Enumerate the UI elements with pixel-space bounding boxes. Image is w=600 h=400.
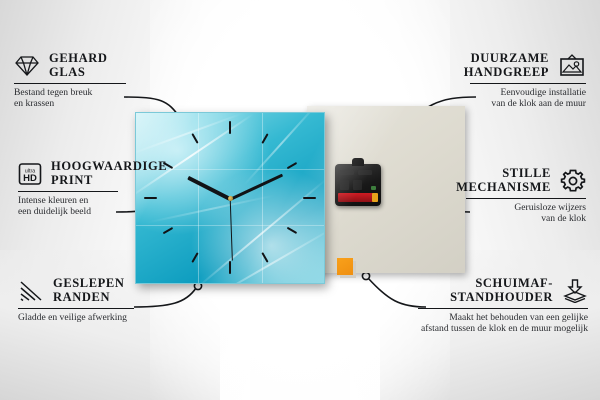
battery <box>338 193 374 202</box>
mechanism-detail <box>353 180 362 190</box>
feature-hoogwaardige-print[interactable]: ultra HD HOOGWAARDIGE PRINT Intense kleu… <box>18 160 118 218</box>
diamond-icon <box>14 55 40 77</box>
feature-desc-line2: van de klok <box>466 213 586 224</box>
feature-desc-line2: en krassen <box>14 98 126 109</box>
feature-geslepen-randen[interactable]: GESLEPEN RANDEN Gladde en veilige afwerk… <box>18 277 134 323</box>
foam-spacer-icon <box>562 279 588 303</box>
feature-desc-line2: een duidelijk beeld <box>18 206 118 217</box>
clock-second-hand <box>229 199 233 261</box>
feature-title-line2: GLAS <box>49 66 107 80</box>
feature-title-line1: DUURZAME <box>464 52 549 66</box>
mechanism-detail <box>358 170 372 175</box>
feature-title-line2: PRINT <box>51 174 167 188</box>
clock-center-pin <box>228 196 233 201</box>
feature-title-line2: RANDEN <box>53 291 125 305</box>
mechanism-detail <box>340 180 349 190</box>
feature-schuimaf-standhouder[interactable]: SCHUIMAF- STANDHOUDER Maakt het behouden… <box>418 277 588 335</box>
mechanism-detail <box>340 170 354 175</box>
feature-divider <box>14 83 126 84</box>
feature-title-line2: HANDGREEP <box>464 66 549 80</box>
picture-hanger-icon <box>558 54 586 78</box>
ultra-hd-icon: ultra HD <box>18 162 42 186</box>
feature-desc-line1: Maakt het behouden van een gelijke <box>418 312 588 323</box>
feature-gehard-glas[interactable]: GEHARD GLAS Bestand tegen breuk en krass… <box>14 52 126 110</box>
feature-title-line1: STILLE <box>456 167 551 181</box>
feature-title-line1: HOOGWAARDIGE <box>51 160 167 174</box>
feature-divider <box>18 308 134 309</box>
mechanism-indicator <box>371 186 376 190</box>
feature-title-line2: STANDHOUDER <box>450 291 553 305</box>
battery-terminal <box>372 193 378 202</box>
beveled-edges-icon <box>18 280 44 302</box>
feature-desc-line1: Gladde en veilige afwerking <box>18 312 134 323</box>
clock-hour-hand <box>187 176 231 201</box>
feature-desc-line2: van de klok aan de muur <box>470 98 586 109</box>
clock-glass-face <box>135 112 325 284</box>
feature-desc-line1: Intense kleuren en <box>18 195 118 206</box>
feature-title-line1: GESLEPEN <box>53 277 125 291</box>
connector-node-schuimaf-standhouder <box>362 272 369 279</box>
mechanism-hanger <box>352 158 364 166</box>
feature-divider <box>18 191 118 192</box>
feature-divider <box>466 198 586 199</box>
feature-divider <box>470 83 586 84</box>
infographic-canvas: GEHARD GLAS Bestand tegen breuk en krass… <box>0 0 600 400</box>
feature-title-line1: SCHUIMAF- <box>450 277 553 291</box>
feature-stille-mechanisme[interactable]: STILLE MECHANISME Geruisloze wijzers van… <box>466 167 586 225</box>
feature-title-line1: GEHARD <box>49 52 107 66</box>
gear-icon <box>560 168 586 194</box>
clock-back-panel <box>307 106 465 273</box>
clock-mechanism <box>335 164 381 206</box>
feature-desc-line1: Geruisloze wijzers <box>466 202 586 213</box>
feature-desc-line1: Eenvoudige installatie <box>470 87 586 98</box>
feature-desc-line1: Bestand tegen breuk <box>14 87 126 98</box>
feature-duurzame-handgreep[interactable]: DUURZAME HANDGREEP Eenvoudige installati… <box>470 52 586 110</box>
feature-divider <box>418 308 588 309</box>
feature-desc-line2: afstand tussen de klok en de muur mogeli… <box>418 323 588 334</box>
product-image <box>135 100 335 285</box>
clock-minute-hand <box>229 173 283 201</box>
foam-spacer-pad <box>337 258 353 275</box>
feature-title-line2: MECHANISME <box>456 181 551 195</box>
svg-text:HD: HD <box>23 173 37 184</box>
